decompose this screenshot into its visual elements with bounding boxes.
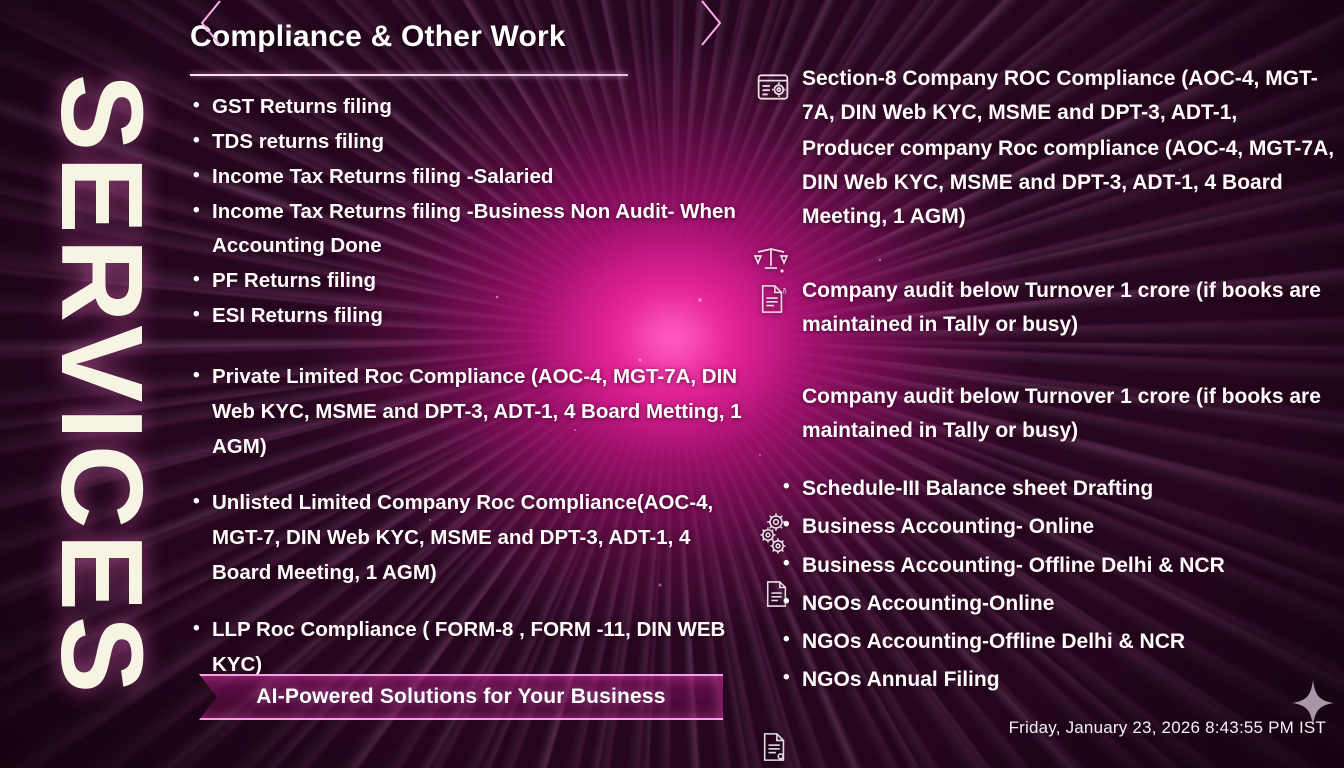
right-block-company-audit-1: Company audit below Turnover 1 crore (if… (752, 274, 1338, 342)
section-heading: Compliance & Other Work (190, 20, 750, 54)
vertical-title-services: SERVICES (44, 36, 160, 736)
right-block-text: Section-8 Company ROC Compliance (AOC-4,… (752, 62, 1338, 130)
list-item: Schedule-III Balance sheet Drafting (752, 470, 1338, 508)
balance-scale-icon (754, 244, 788, 278)
list-item: PF Returns filing (190, 264, 750, 299)
list-item: NGOs Accounting-Offline Delhi & NCR (752, 623, 1338, 661)
list-item: Business Accounting- Offline Delhi & NCR (752, 547, 1338, 585)
right-block-text: Producer company Roc compliance (AOC-4, … (752, 132, 1338, 234)
right-service-list: Schedule-III Balance sheet Drafting Busi… (752, 470, 1338, 699)
right-block-section8: Section-8 Company ROC Compliance (AOC-4,… (752, 62, 1338, 130)
right-block-producer-company: δ Producer company Roc compliance (AOC-4… (752, 132, 1338, 234)
list-item: ESI Returns filing (190, 299, 750, 334)
list-item: Unlisted Limited Company Roc Compliance(… (190, 486, 750, 591)
left-column: Compliance & Other Work GST Returns fili… (190, 20, 750, 683)
roc-compliance-icon (756, 70, 790, 104)
left-service-list-primary: GST Returns filing TDS returns filing In… (190, 90, 750, 334)
list-item: Private Limited Roc Compliance (AOC-4, M… (190, 360, 750, 465)
right-block-text: Company audit below Turnover 1 crore (if… (752, 274, 1338, 342)
list-item: NGOs Annual Filing (752, 661, 1338, 699)
tagline-banner: AI-Powered Solutions for Your Business (199, 674, 723, 720)
document-seal-icon (760, 732, 790, 762)
list-item: Income Tax Returns filing -Salaried (190, 160, 750, 195)
right-block-text: Company audit below Turnover 1 crore (if… (752, 380, 1338, 448)
left-service-list-secondary: Private Limited Roc Compliance (AOC-4, M… (190, 360, 750, 683)
slide-canvas: SERVICES Compliance & Other Work GST Ret… (0, 0, 1344, 768)
tagline-banner-text: AI-Powered Solutions for Your Business (256, 685, 665, 709)
list-item: Income Tax Returns filing -Business Non … (190, 195, 750, 265)
list-item: NGOs Accounting-Online (752, 585, 1338, 623)
timestamp: Friday, January 23, 2026 8:43:55 PM IST (1009, 718, 1326, 738)
list-item: GST Returns filing (190, 90, 750, 125)
heading-divider (190, 74, 628, 76)
list-item: Business Accounting- Online (752, 508, 1338, 546)
right-block-company-audit-2: $ Company audit below Turnover 1 crore (… (752, 380, 1338, 448)
list-item: TDS returns filing (190, 125, 750, 160)
list-item: LLP Roc Compliance ( FORM-8 , FORM -11, … (190, 613, 750, 683)
right-column: Section-8 Company ROC Compliance (AOC-4,… (752, 62, 1338, 699)
